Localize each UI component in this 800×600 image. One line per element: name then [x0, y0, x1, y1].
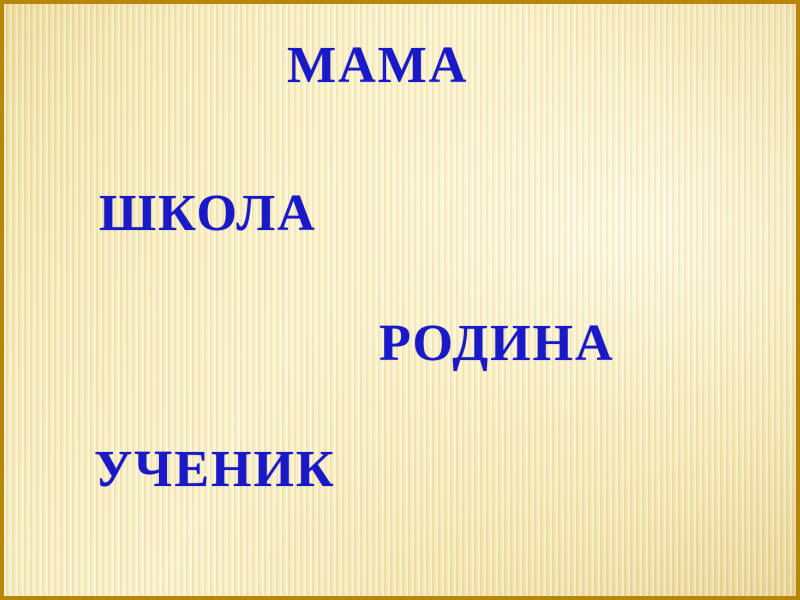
- word-rodina: РОДИНА: [379, 318, 615, 370]
- word-shkola: ШКОЛА: [99, 188, 317, 240]
- word-mama: МАМА: [287, 40, 468, 92]
- word-list: МАМА ШКОЛА РОДИНА УЧЕНИК: [4, 4, 796, 596]
- slide: МАМА ШКОЛА РОДИНА УЧЕНИК: [0, 0, 800, 600]
- word-uchenik: УЧЕНИК: [94, 444, 336, 496]
